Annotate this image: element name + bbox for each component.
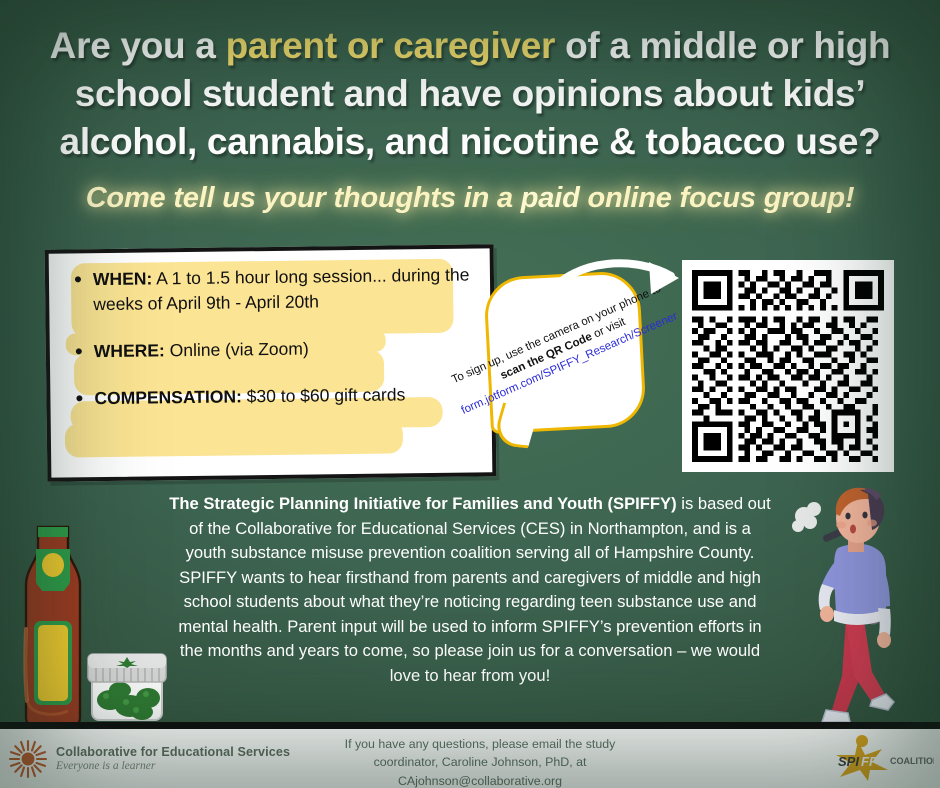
qr-code-image[interactable] — [692, 270, 884, 462]
teen-vaping-illustration — [786, 482, 932, 726]
list-item: COMPENSATION: $30 to $60 gift cards — [68, 382, 475, 412]
ces-tagline: Everyone is a learner — [56, 760, 290, 774]
list-item: WHEN: A 1 to 1.5 hour long session... du… — [67, 263, 475, 318]
bullet-label-where: WHERE: — [94, 340, 165, 361]
bullet-text-compensation: $30 to $60 gift cards — [242, 384, 406, 406]
sunburst-icon — [8, 739, 48, 779]
headline-highlight: parent or caregiver — [226, 25, 556, 66]
subhead-part1: Come tell us your thoughts in a — [86, 182, 521, 214]
about-paragraph: The Strategic Planning Initiative for Fa… — [168, 492, 772, 688]
contact-line-1: If you have any questions, please email … — [280, 735, 680, 753]
details-card-inner: WHEN: A 1 to 1.5 hour long session... du… — [49, 248, 493, 477]
page-title: Are you a parent or caregiver of a middl… — [30, 22, 910, 166]
ces-name: Collaborative for Educational Services — [56, 745, 290, 760]
contact-line-2: coordinator, Caroline Johnson, PhD, at — [280, 753, 680, 771]
spiffy-coalition-logo: SPI FFY COALITION — [818, 735, 934, 783]
bullet-label-compensation: COMPENSATION: — [94, 386, 242, 408]
spiffy-text-1: SPI — [838, 754, 859, 769]
list-item: WHERE: Online (via Zoom) — [68, 335, 475, 365]
coalition-text: COALITION — [890, 756, 934, 766]
cannabis-jar-illustration — [86, 632, 168, 724]
ces-logo: Collaborative for Educational Services E… — [8, 739, 290, 779]
bullet-label-when: WHEN: — [93, 268, 153, 289]
beer-bottle-illustration — [8, 513, 98, 725]
qr-code-container[interactable] — [682, 260, 894, 472]
subhead-part2: online focus group! — [580, 182, 855, 214]
subheadline: Come tell us your thoughts in a paid onl… — [30, 182, 910, 215]
spiffy-text-2: FFY — [861, 754, 887, 769]
footer-divider — [0, 722, 940, 729]
contact-info: If you have any questions, please email … — [280, 735, 680, 788]
details-card: WHEN: A 1 to 1.5 hour long session... du… — [45, 244, 497, 481]
headline-part1: Are you a — [50, 25, 226, 66]
subhead-emphasis: paid — [521, 182, 580, 214]
about-text: is based out of the Collaborative for Ed… — [178, 494, 770, 685]
bullet-text-where: Online (via Zoom) — [165, 339, 309, 361]
poster-root: Are you a parent or caregiver of a middl… — [0, 0, 940, 788]
curved-arrow-icon — [545, 252, 695, 312]
about-lead: The Strategic Planning Initiative for Fa… — [169, 494, 676, 513]
contact-email[interactable]: CAjohnson@collaborative.org — [280, 772, 680, 788]
highlight-swatch-3b — [65, 419, 403, 457]
footer: Collaborative for Educational Services E… — [0, 729, 940, 788]
